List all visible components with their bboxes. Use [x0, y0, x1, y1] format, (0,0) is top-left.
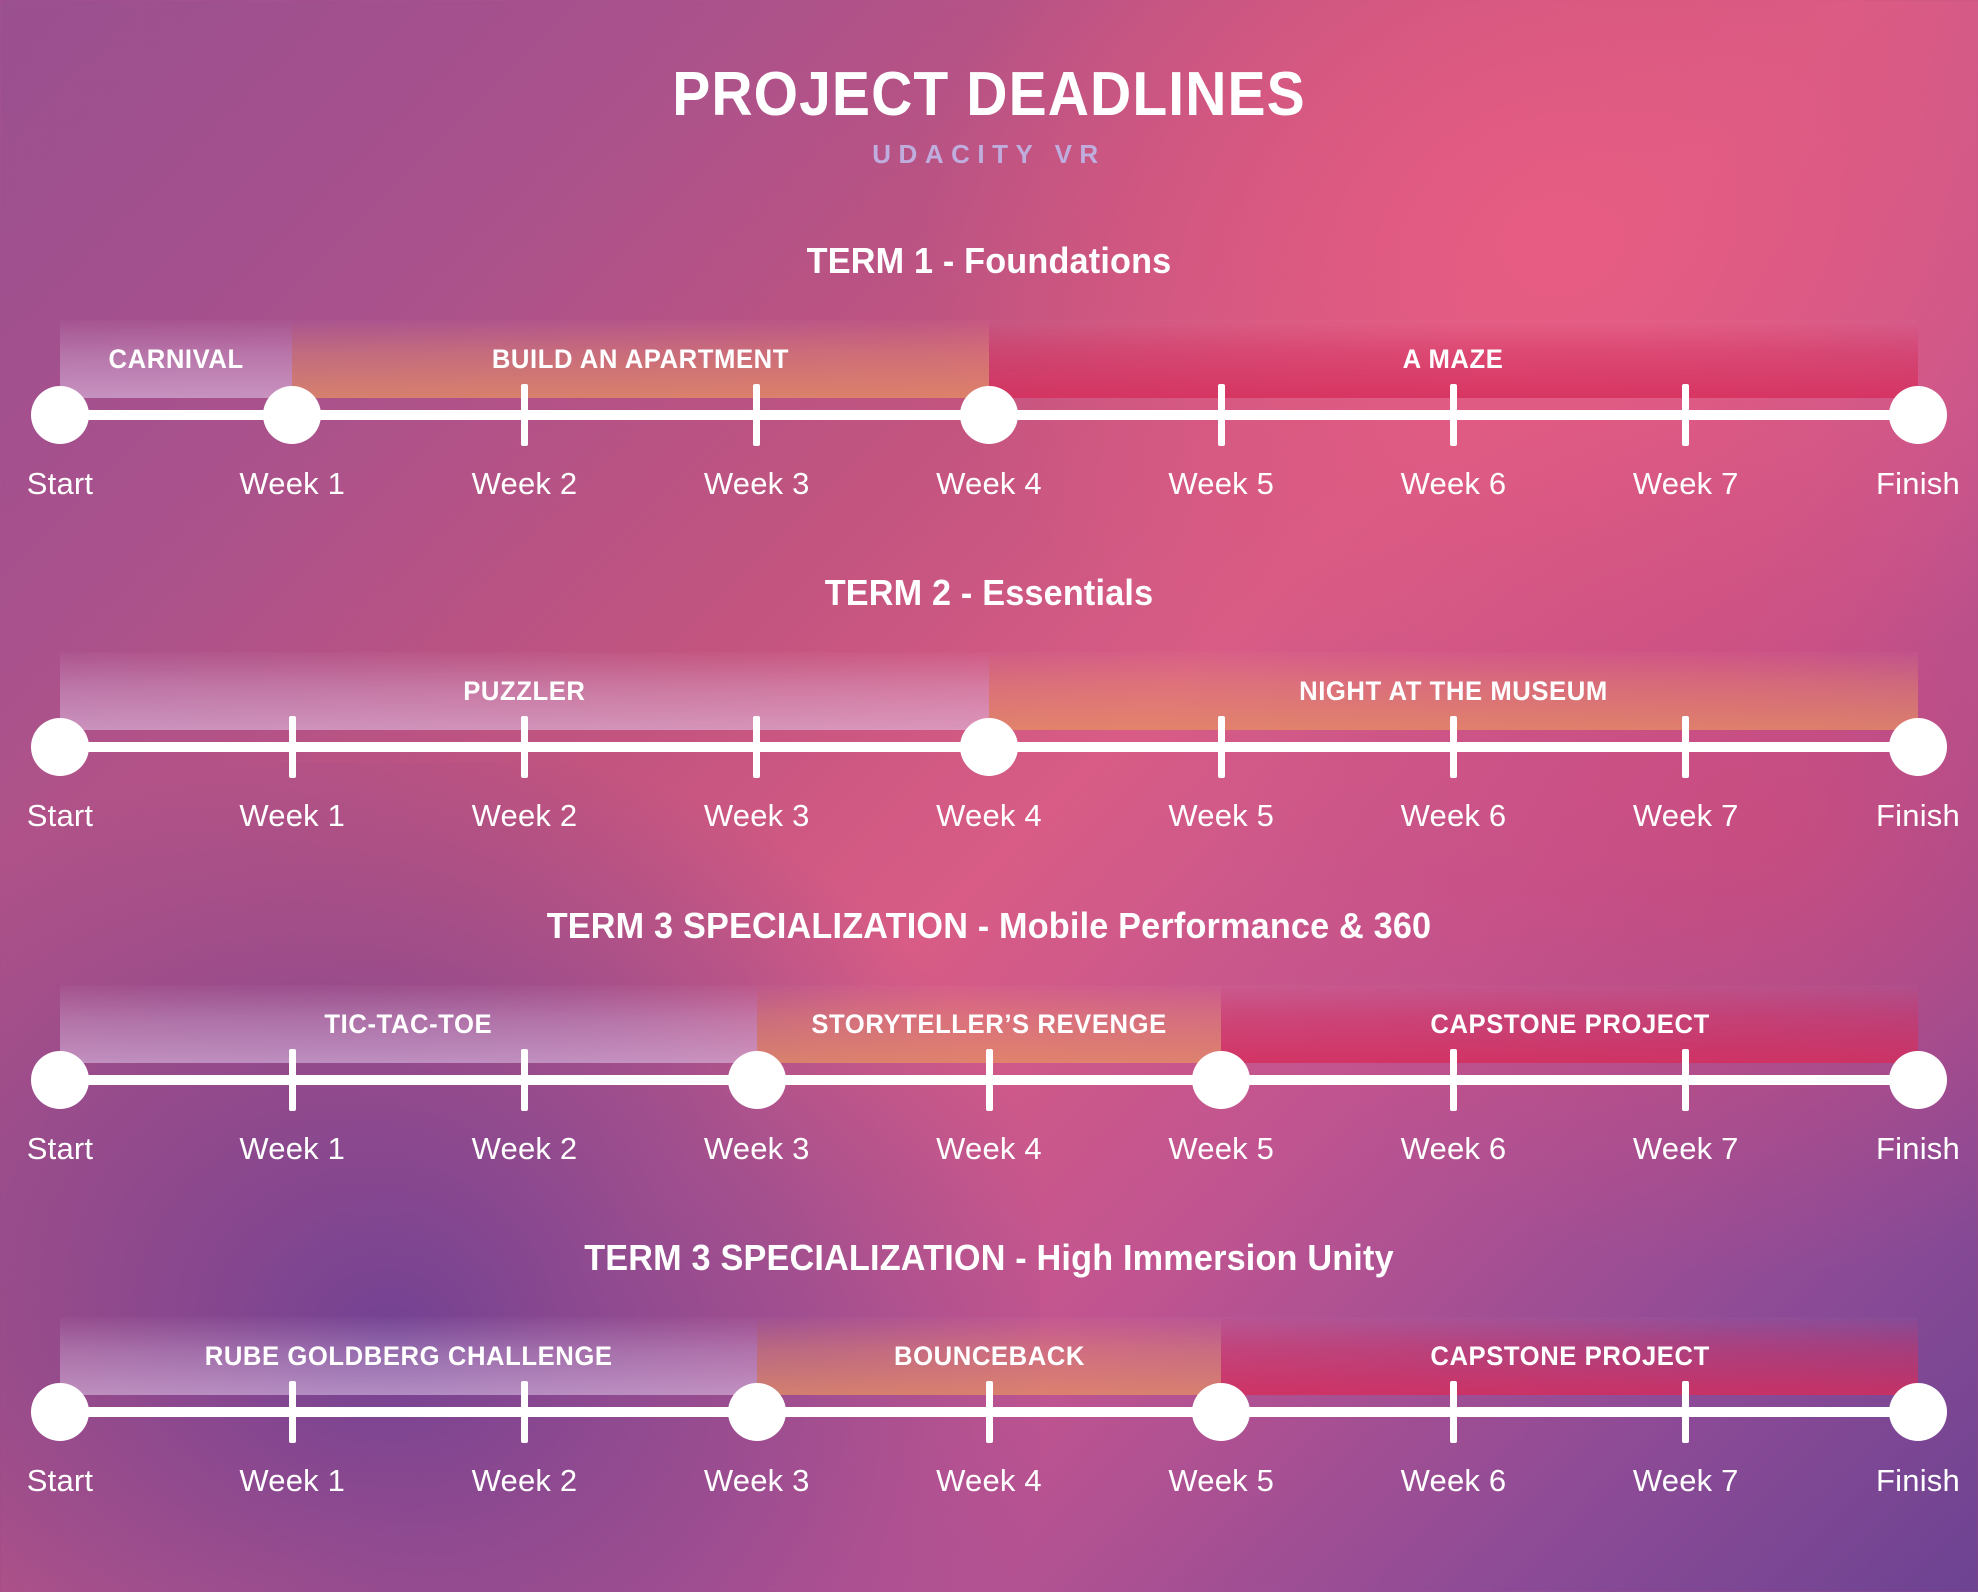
week-tick [1450, 384, 1457, 446]
segment-label: A MAZE [1403, 344, 1504, 375]
term-block-2: TERM 2 - Essentials PUZZLERNIGHT AT THE … [0, 572, 1978, 870]
term-block-1: TERM 1 - Foundations CARNIVALBUILD AN AP… [0, 240, 1978, 538]
milestone-dot[interactable] [728, 1383, 786, 1441]
timeline-segment[interactable]: CARNIVAL [60, 320, 292, 398]
axis-tick-label: Week 6 [1401, 798, 1507, 834]
axis-tick-label: Week 1 [239, 466, 345, 502]
milestone-dot[interactable] [1889, 1051, 1947, 1109]
axis-tick-label: Week 7 [1633, 1131, 1739, 1167]
week-tick [1682, 384, 1689, 446]
axis-tick-label: Week 5 [1168, 466, 1274, 502]
axis-tick-label: Finish [1876, 1463, 1960, 1499]
timeline: PUZZLERNIGHT AT THE MUSEUMStartWeek 1Wee… [60, 630, 1918, 870]
week-tick [753, 716, 760, 778]
milestone-dot[interactable] [263, 386, 321, 444]
timeline-segment[interactable]: RUBE GOLDBERG CHALLENGE [60, 1317, 757, 1395]
axis-tick-label: Week 1 [239, 1463, 345, 1499]
segment-label: BUILD AN APARTMENT [492, 344, 789, 375]
timeline-segment[interactable]: CAPSTONE PROJECT [1221, 985, 1918, 1063]
segment-label: CAPSTONE PROJECT [1430, 1341, 1709, 1372]
axis-tick-label: Week 2 [472, 466, 578, 502]
axis-tick-label: Week 4 [936, 1463, 1042, 1499]
axis-tick-label: Finish [1876, 466, 1960, 502]
term-heading: TERM 3 SPECIALIZATION - High Immersion U… [49, 1237, 1928, 1279]
axis-tick-label: Week 1 [239, 1131, 345, 1167]
term-heading: TERM 2 - Essentials [49, 572, 1928, 614]
axis-tick-label: Week 6 [1401, 1463, 1507, 1499]
week-tick [986, 1049, 993, 1111]
page-subtitle: UDACITY VR [0, 139, 1978, 170]
milestone-dot[interactable] [1192, 1051, 1250, 1109]
week-tick [1218, 384, 1225, 446]
milestone-dot[interactable] [31, 718, 89, 776]
axis-tick-label: Week 7 [1633, 466, 1739, 502]
axis-tick-label: Week 7 [1633, 798, 1739, 834]
week-tick [289, 1381, 296, 1443]
axis-tick-label: Week 6 [1401, 1131, 1507, 1167]
axis-tick-label: Week 5 [1168, 1131, 1274, 1167]
axis-tick-label: Week 4 [936, 466, 1042, 502]
timeline: TIC-TAC-TOESTORYTELLER’S REVENGECAPSTONE… [60, 963, 1918, 1203]
axis-tick-label: Finish [1876, 1131, 1960, 1167]
axis-tick-label: Week 5 [1168, 798, 1274, 834]
week-tick [1450, 1381, 1457, 1443]
axis-tick-label: Start [27, 1131, 93, 1167]
axis-tick-label: Week 3 [704, 1131, 810, 1167]
segment-label: TIC-TAC-TOE [324, 1009, 492, 1040]
milestone-dot[interactable] [728, 1051, 786, 1109]
segment-label: CARNIVAL [109, 344, 244, 375]
segment-label: CAPSTONE PROJECT [1430, 1009, 1709, 1040]
segment-label: PUZZLER [463, 676, 585, 707]
timeline: RUBE GOLDBERG CHALLENGEBOUNCEBACKCAPSTON… [60, 1295, 1918, 1535]
axis-tick-label: Week 4 [936, 798, 1042, 834]
infographic-canvas: PROJECT DEADLINES UDACITY VR TERM 1 - Fo… [0, 0, 1978, 1592]
axis-tick-label: Week 3 [704, 1463, 810, 1499]
milestone-dot[interactable] [31, 386, 89, 444]
week-tick [521, 1381, 528, 1443]
milestone-dot[interactable] [960, 718, 1018, 776]
term-heading: TERM 1 - Foundations [49, 240, 1928, 282]
axis-tick-label: Week 3 [704, 798, 810, 834]
segment-label: BOUNCEBACK [894, 1341, 1085, 1372]
axis-tick-label: Start [27, 466, 93, 502]
timeline-segment[interactable]: TIC-TAC-TOE [60, 985, 757, 1063]
week-tick [1450, 716, 1457, 778]
week-tick [1450, 1049, 1457, 1111]
term-block-3: TERM 3 SPECIALIZATION - Mobile Performan… [0, 905, 1978, 1203]
timeline-segment[interactable]: CAPSTONE PROJECT [1221, 1317, 1918, 1395]
milestone-dot[interactable] [960, 386, 1018, 444]
axis-tick-label: Week 1 [239, 798, 345, 834]
timeline-segment[interactable]: BUILD AN APARTMENT [292, 320, 989, 398]
week-tick [289, 1049, 296, 1111]
axis-tick-label: Week 7 [1633, 1463, 1739, 1499]
axis-tick-label: Week 5 [1168, 1463, 1274, 1499]
milestone-dot[interactable] [1192, 1383, 1250, 1441]
week-tick [1682, 1049, 1689, 1111]
axis-tick-label: Week 4 [936, 1131, 1042, 1167]
axis-tick-label: Week 2 [472, 798, 578, 834]
week-tick [521, 1049, 528, 1111]
segment-label: STORYTELLER’S REVENGE [811, 1009, 1166, 1040]
milestone-dot[interactable] [1889, 1383, 1947, 1441]
milestone-dot[interactable] [1889, 718, 1947, 776]
week-tick [1682, 716, 1689, 778]
axis-tick-label: Week 3 [704, 466, 810, 502]
axis-tick-label: Week 2 [472, 1463, 578, 1499]
segment-label: NIGHT AT THE MUSEUM [1299, 676, 1608, 707]
term-block-4: TERM 3 SPECIALIZATION - High Immersion U… [0, 1237, 1978, 1535]
axis-tick-label: Start [27, 798, 93, 834]
axis-tick-label: Start [27, 1463, 93, 1499]
week-tick [1218, 716, 1225, 778]
axis-tick-label: Finish [1876, 798, 1960, 834]
week-tick [289, 716, 296, 778]
week-tick [753, 384, 760, 446]
week-tick [521, 384, 528, 446]
week-tick [521, 716, 528, 778]
milestone-dot[interactable] [31, 1383, 89, 1441]
week-tick [986, 1381, 993, 1443]
axis-tick-label: Week 6 [1401, 466, 1507, 502]
week-tick [1682, 1381, 1689, 1443]
segment-label: RUBE GOLDBERG CHALLENGE [204, 1341, 612, 1372]
page-title: PROJECT DEADLINES [79, 62, 1899, 127]
axis-tick-label: Week 2 [472, 1131, 578, 1167]
milestone-dot[interactable] [31, 1051, 89, 1109]
term-heading: TERM 3 SPECIALIZATION - Mobile Performan… [49, 905, 1928, 947]
timeline: CARNIVALBUILD AN APARTMENTA MAZEStartWee… [60, 298, 1918, 538]
milestone-dot[interactable] [1889, 386, 1947, 444]
header: PROJECT DEADLINES UDACITY VR [0, 62, 1978, 170]
